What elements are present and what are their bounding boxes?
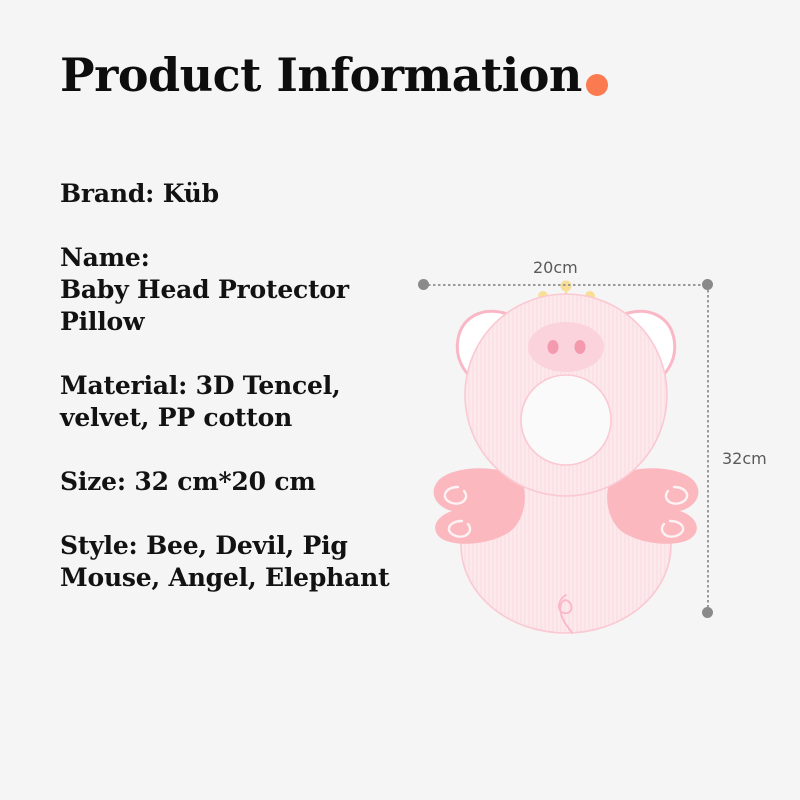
height-dimension-line — [707, 290, 709, 612]
page-header: Product Information — [60, 52, 608, 98]
width-dimension-line — [428, 284, 708, 286]
spec-line: Brand: Küb — [60, 178, 460, 210]
pig-pillow-illustration — [400, 255, 760, 635]
pillow-hole — [521, 375, 611, 465]
dimension-endpoint-dot — [702, 607, 713, 618]
product-information-card: Product Information Brand: Küb Name: Bab… — [0, 0, 800, 800]
orange-dot-icon — [586, 74, 608, 96]
nostril-right — [575, 340, 586, 354]
height-dimension-label: 32cm — [722, 449, 767, 468]
pig-snout — [528, 322, 604, 372]
nostril-left — [548, 340, 559, 354]
product-illustration — [400, 255, 760, 635]
spec-item-brand: Brand: Küb — [60, 178, 460, 210]
dimension-endpoint-dot — [418, 279, 429, 290]
page-title: Product Information — [60, 52, 582, 98]
width-dimension-label: 20cm — [533, 258, 578, 277]
dimension-endpoint-dot — [702, 279, 713, 290]
